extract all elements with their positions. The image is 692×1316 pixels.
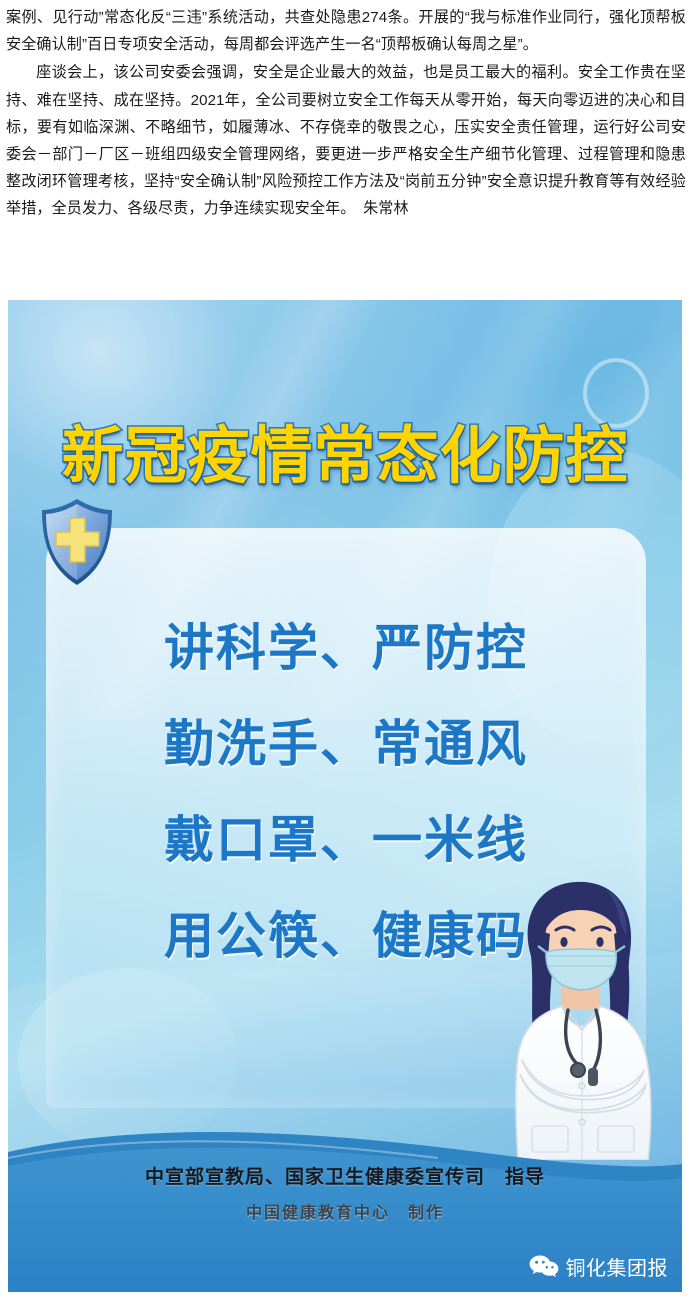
- circle-ring-decoration: [583, 358, 649, 428]
- covid-prevention-poster: 新冠疫情常态化防控 讲科学、严防控 勤洗手、常通风 戴口罩、一米线 用公筷、健康…: [8, 300, 682, 1292]
- article-body: 案例、见行动”常态化反“三违”系统活动，共查处隐患274条。开展的“我与标准作业…: [0, 0, 692, 223]
- poster-credits: 中宣部宣教局、国家卫生健康委宣传司 指导 中国健康教育中心 制作: [8, 1162, 682, 1223]
- credit-guidance: 中宣部宣教局、国家卫生健康委宣传司 指导: [8, 1162, 682, 1189]
- slogan-list: 讲科学、严防控 勤洗手、常通风 戴口罩、一米线 用公筷、健康码: [46, 600, 646, 984]
- credit-producer: 中国健康教育中心 制作: [8, 1199, 682, 1223]
- article-paragraph-1: 案例、见行动”常态化反“三违”系统活动，共查处隐患274条。开展的“我与标准作业…: [6, 4, 686, 58]
- newsletter-page: 案例、见行动”常态化反“三违”系统活动，共查处隐患274条。开展的“我与标准作业…: [0, 0, 692, 1316]
- poster-title: 新冠疫情常态化防控: [8, 425, 682, 487]
- wechat-icon: [529, 1254, 559, 1280]
- wechat-account-badge: 铜化集团报: [529, 1252, 669, 1281]
- article-paragraph-2: 座谈会上，该公司安委会强调，安全是企业最大的效益，也是员工最大的福利。安全工作贵…: [6, 59, 686, 222]
- slogan-line: 讲科学、严防控: [46, 600, 646, 696]
- slogan-line: 用公筷、健康码: [46, 888, 646, 984]
- wechat-account-name: 铜化集团报: [566, 1252, 669, 1281]
- slogan-line: 勤洗手、常通风: [46, 696, 646, 792]
- slogan-line: 戴口罩、一米线: [46, 792, 646, 888]
